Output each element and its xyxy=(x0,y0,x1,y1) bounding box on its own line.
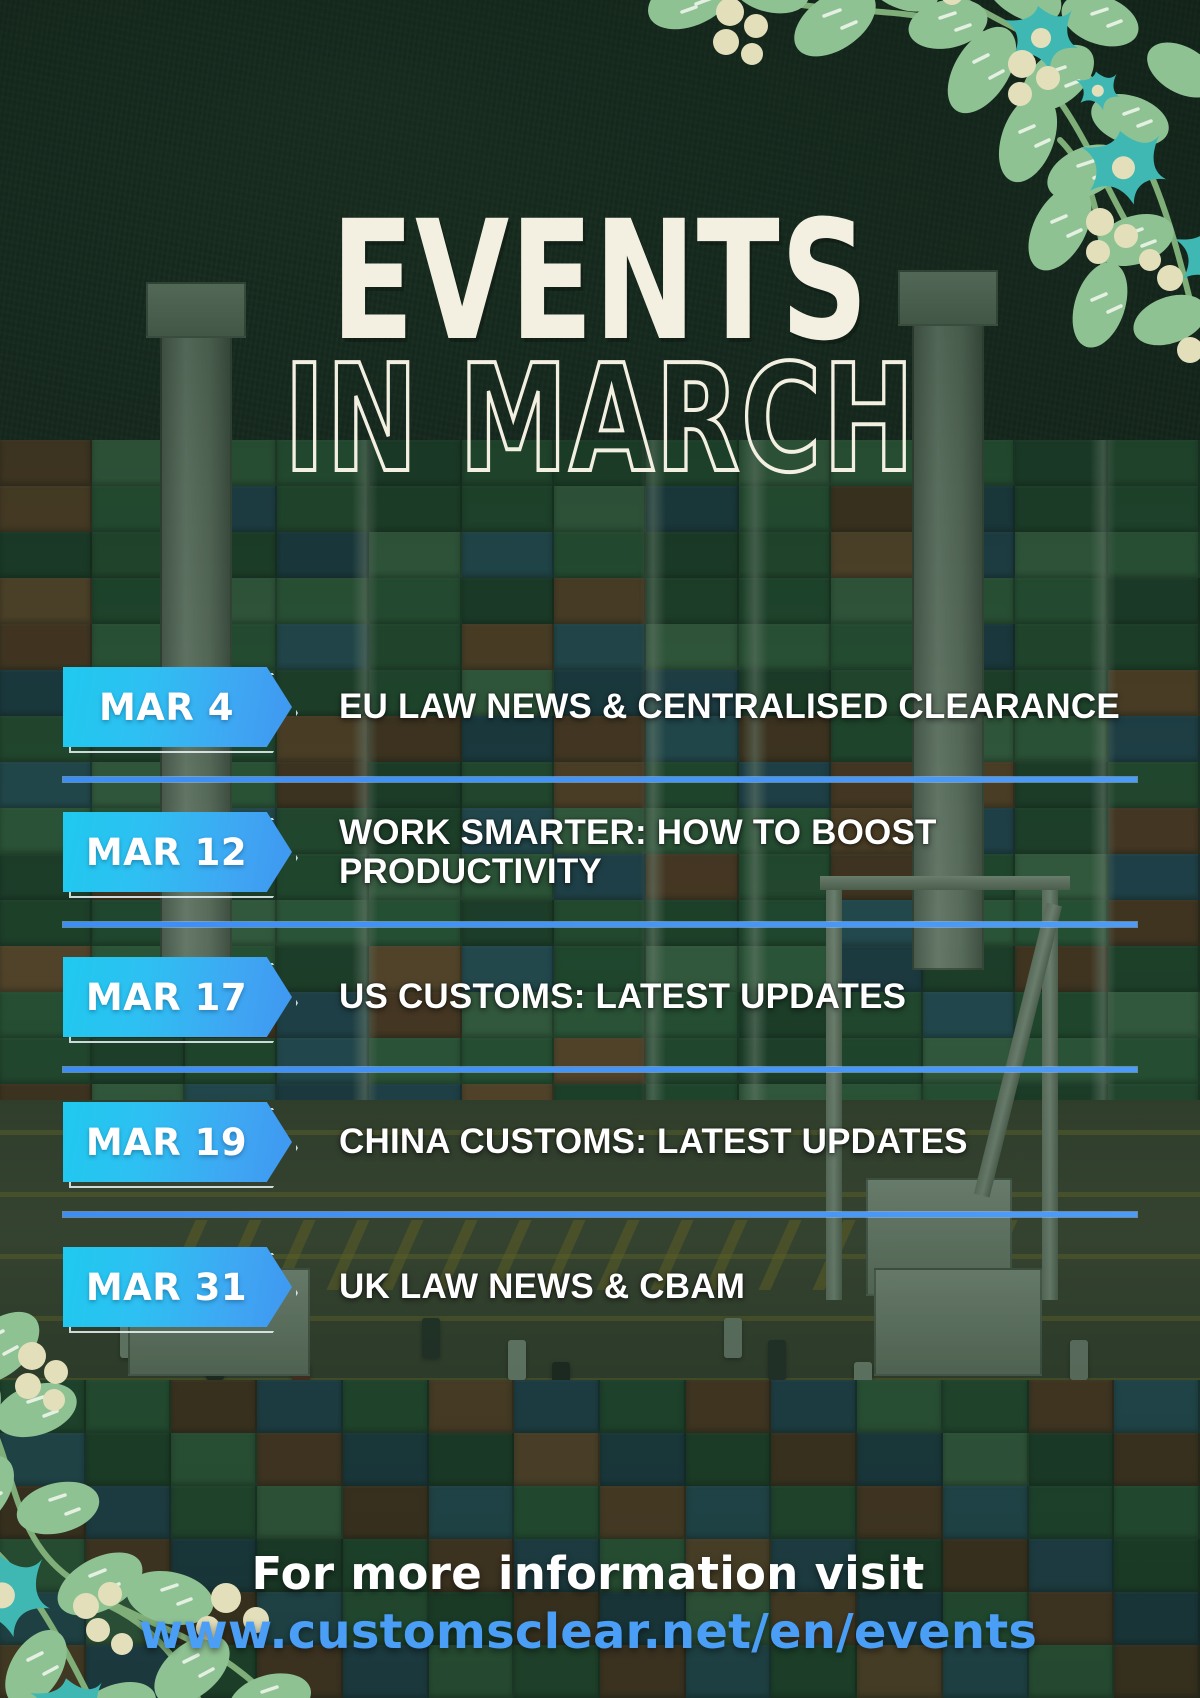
event-date-badge[interactable]: MAR 17 xyxy=(63,957,292,1037)
title-line-events: EVENTS xyxy=(108,214,1092,349)
event-divider xyxy=(63,1212,1137,1217)
event-date-label: MAR 4 xyxy=(99,686,256,729)
footer-info-text: For more information visit xyxy=(0,1547,1176,1600)
event-title: UK LAW NEWS & CBAM xyxy=(293,1267,1200,1306)
event-title: US CUSTOMS: LATEST UPDATES xyxy=(293,977,1200,1016)
event-date-label: MAR 12 xyxy=(86,831,269,874)
footer-website-url[interactable]: www.customsclear.net/en/events xyxy=(0,1604,1176,1660)
event-row[interactable]: MAR 31UK LAW NEWS & CBAM xyxy=(0,1230,1200,1344)
event-title: EU LAW NEWS & CENTRALISED CLEARANCE xyxy=(293,687,1200,726)
event-row[interactable]: MAR 12WORK SMARTER: HOW TO BOOST PRODUCT… xyxy=(0,795,1200,909)
event-divider xyxy=(63,777,1137,782)
events-poster: EVENTS IN MARCH MAR 4EU LAW NEWS & CENTR… xyxy=(0,0,1200,1698)
event-date-badge[interactable]: MAR 31 xyxy=(63,1247,292,1327)
title-line-in-march: IN MARCH xyxy=(108,353,1092,486)
event-date-label: MAR 19 xyxy=(86,1121,269,1164)
events-list: MAR 4EU LAW NEWS & CENTRALISED CLEARANCE… xyxy=(0,650,1200,1344)
event-title: WORK SMARTER: HOW TO BOOST PRODUCTIVITY xyxy=(293,813,1200,891)
event-date-badge[interactable]: MAR 19 xyxy=(63,1102,292,1182)
event-date-label: MAR 17 xyxy=(86,976,269,1019)
event-date-badge-wrap: MAR 4 xyxy=(63,667,293,747)
event-date-badge[interactable]: MAR 12 xyxy=(63,812,292,892)
event-date-badge-wrap: MAR 31 xyxy=(63,1247,293,1327)
event-title: CHINA CUSTOMS: LATEST UPDATES xyxy=(293,1122,1200,1161)
event-date-badge-wrap: MAR 12 xyxy=(63,812,293,892)
event-date-badge[interactable]: MAR 4 xyxy=(63,667,292,747)
event-divider xyxy=(63,922,1137,927)
poster-title: EVENTS IN MARCH xyxy=(0,214,1200,486)
footer: For more information visit www.customscl… xyxy=(0,1547,1200,1660)
event-row[interactable]: MAR 17US CUSTOMS: LATEST UPDATES xyxy=(0,940,1200,1054)
event-date-label: MAR 31 xyxy=(86,1266,269,1309)
event-date-badge-wrap: MAR 19 xyxy=(63,1102,293,1182)
event-row[interactable]: MAR 4EU LAW NEWS & CENTRALISED CLEARANCE xyxy=(0,650,1200,764)
event-row[interactable]: MAR 19CHINA CUSTOMS: LATEST UPDATES xyxy=(0,1085,1200,1199)
event-date-badge-wrap: MAR 17 xyxy=(63,957,293,1037)
event-divider xyxy=(63,1067,1137,1072)
